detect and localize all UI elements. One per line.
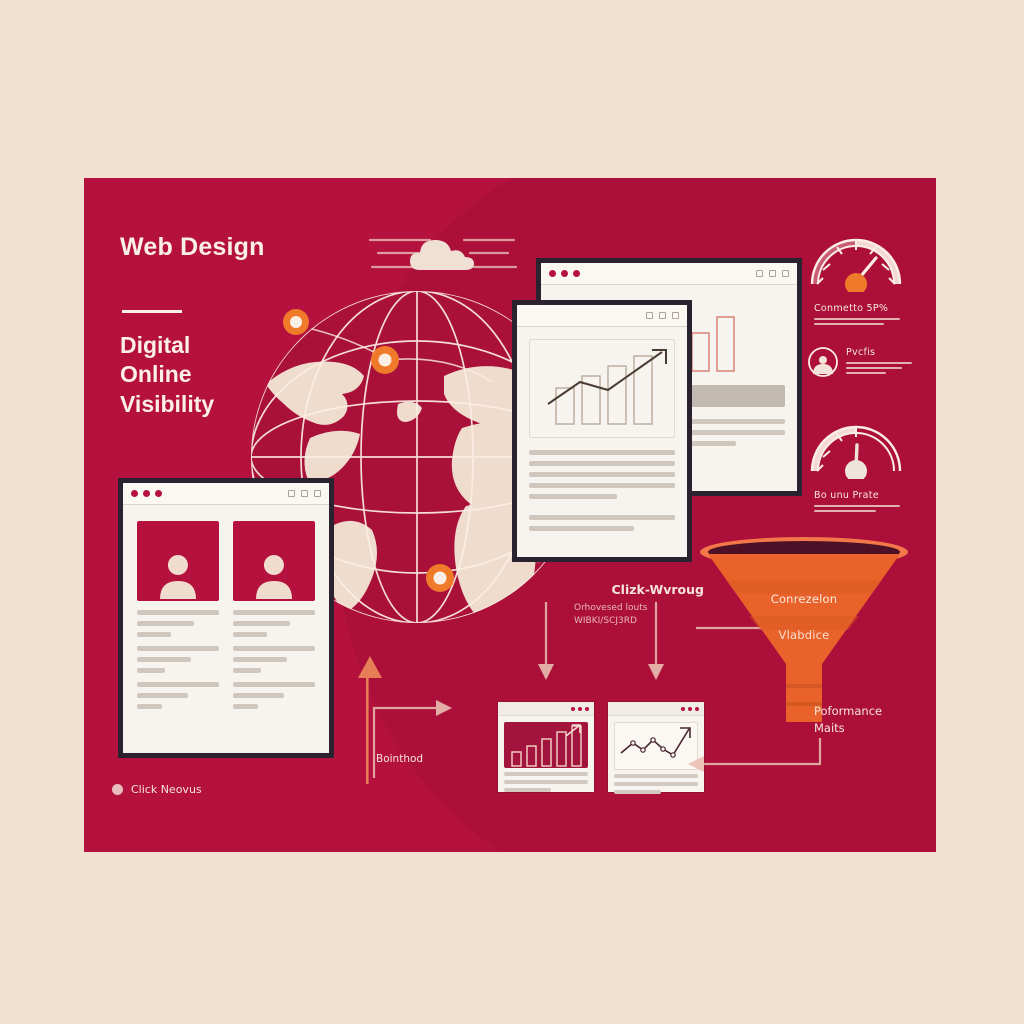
text-line xyxy=(846,372,886,374)
text-line xyxy=(137,704,162,709)
performance-line-2: Maits xyxy=(814,720,924,737)
performance-line-1: Poformance xyxy=(814,703,924,720)
report-body xyxy=(517,327,687,549)
text-line xyxy=(846,362,912,364)
window-controls[interactable] xyxy=(288,490,321,497)
dot-icon xyxy=(155,490,162,497)
click-metric-row: Click Neovus xyxy=(112,783,202,796)
text-line xyxy=(233,646,315,651)
text-line xyxy=(529,526,634,531)
ctr-sub-1: Orhovesed louts xyxy=(574,602,704,615)
text-line xyxy=(529,472,675,477)
report-window[interactable] xyxy=(512,300,692,562)
dot-icon xyxy=(143,490,150,497)
avatar xyxy=(233,521,315,601)
text-line xyxy=(529,494,617,499)
performance-label: Poformance Maits xyxy=(814,703,924,736)
text-line xyxy=(814,505,900,507)
profiles-window[interactable] xyxy=(118,478,334,758)
metrics-column: Conmetto 5P% Pvcfis xyxy=(804,218,924,515)
card-body xyxy=(498,716,594,798)
text-line xyxy=(529,515,675,520)
text-line xyxy=(233,682,315,687)
gauge-hub xyxy=(845,273,867,292)
text-line xyxy=(814,323,884,325)
text-line xyxy=(137,668,165,673)
subtitle-line-1: Digital xyxy=(120,331,420,361)
bar-chart-card[interactable] xyxy=(498,702,594,792)
close-icon xyxy=(672,312,679,319)
text-line xyxy=(614,790,661,794)
method-label: Bointhod xyxy=(376,753,423,765)
text-line xyxy=(137,693,188,698)
profile-metric-row: Pvcfis xyxy=(808,347,924,377)
dot-icon xyxy=(561,270,568,277)
text-line xyxy=(137,621,194,626)
text-line xyxy=(233,621,290,626)
subtitle: Digital Online Visibility xyxy=(120,331,420,421)
dot-icon xyxy=(573,270,580,277)
gauge-conversion-label: Conmetto 5P% xyxy=(814,303,924,314)
close-icon xyxy=(782,270,789,277)
bullet-icon xyxy=(112,784,123,795)
bar-chart-icon xyxy=(504,722,588,768)
title-divider xyxy=(122,310,182,313)
window-titlebar[interactable] xyxy=(123,483,329,505)
dot-icon xyxy=(131,490,138,497)
minimize-icon xyxy=(756,270,763,277)
text-line xyxy=(504,772,588,776)
minimize-icon xyxy=(646,312,653,319)
person-circle-icon xyxy=(808,347,838,377)
text-line xyxy=(814,510,876,512)
close-icon xyxy=(314,490,321,497)
profile-card[interactable] xyxy=(233,521,315,715)
maximize-icon xyxy=(301,490,308,497)
dot-icon xyxy=(571,707,575,711)
window-titlebar[interactable] xyxy=(541,263,797,285)
text-line xyxy=(504,780,588,784)
gauge-bounce-label: Bo unu Prate xyxy=(814,490,924,501)
maximize-icon xyxy=(769,270,776,277)
maximize-icon xyxy=(659,312,666,319)
line-chart-card[interactable] xyxy=(608,702,704,792)
page-title: Web Design xyxy=(120,234,420,262)
dot-icon xyxy=(585,707,589,711)
ctr-sub-2: WIBKI/SCJ3RD xyxy=(574,615,704,628)
profile-metric-label: Pvcfis xyxy=(846,347,924,358)
text-line xyxy=(846,367,902,369)
text-line xyxy=(529,450,675,455)
text-line xyxy=(233,610,315,615)
text-line xyxy=(233,632,267,637)
text-line xyxy=(137,632,171,637)
text-line xyxy=(137,646,219,651)
profile-card[interactable] xyxy=(137,521,219,715)
text-line xyxy=(504,788,551,792)
text-line xyxy=(614,774,698,778)
window-controls[interactable] xyxy=(756,270,789,277)
text-line xyxy=(233,657,287,662)
traffic-light-dots xyxy=(131,490,162,497)
text-line xyxy=(137,610,219,615)
dot-icon xyxy=(549,270,556,277)
line-chart-icon xyxy=(614,722,698,770)
funnel-band-conversion: Conrezelon xyxy=(692,592,916,606)
text-line xyxy=(137,657,191,662)
click-metric-label: Click Neovus xyxy=(131,783,202,796)
subtitle-line-3: Visibility xyxy=(120,390,420,420)
dot-icon xyxy=(681,707,685,711)
gauge-conversion: Conmetto 5P% xyxy=(804,218,924,325)
funnel-band-visibility: Vlabdice xyxy=(692,628,916,642)
main-panel: Web Design Digital Online Visibility xyxy=(84,178,936,852)
infographic-canvas: Web Design Digital Online Visibility xyxy=(0,0,1024,1024)
avatar xyxy=(137,521,219,601)
text-line xyxy=(233,704,258,709)
window-controls[interactable] xyxy=(646,312,679,319)
text-line xyxy=(233,668,261,673)
gauge-hub xyxy=(845,460,867,479)
globe-marker xyxy=(426,564,454,592)
card-body xyxy=(608,716,704,800)
ctr-title: Clizk-Wvroug xyxy=(574,582,704,597)
subtitle-line-2: Online xyxy=(120,360,420,390)
ctr-label-group: Clizk-Wvroug Orhovesed louts WIBKI/SCJ3R… xyxy=(574,582,704,628)
dot-icon xyxy=(578,707,582,711)
card-titlebar xyxy=(498,702,594,716)
profiles-body xyxy=(123,505,329,731)
text-line xyxy=(233,693,284,698)
text-line xyxy=(137,682,219,687)
gauge-bounce: Bo unu Prate xyxy=(804,405,924,512)
minimize-icon xyxy=(288,490,295,497)
traffic-light-dots xyxy=(549,270,580,277)
text-line xyxy=(614,782,698,786)
text-line xyxy=(529,483,675,488)
card-titlebar xyxy=(608,702,704,716)
headline-block: Web Design Digital Online Visibility xyxy=(120,234,420,420)
growth-chart-icon xyxy=(534,344,682,428)
window-titlebar[interactable] xyxy=(517,305,687,327)
text-line xyxy=(814,318,900,320)
text-line xyxy=(529,461,675,466)
